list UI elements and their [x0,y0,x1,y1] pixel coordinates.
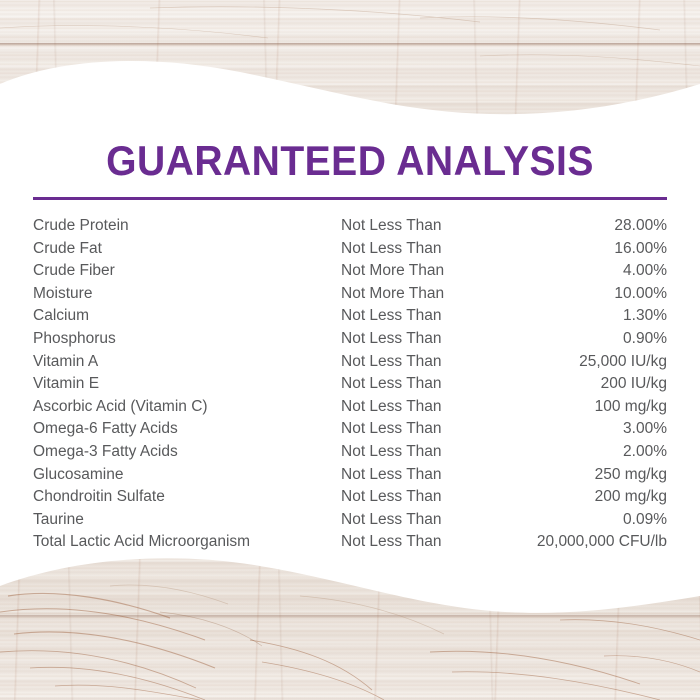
nutrient-qualifier: Not Less Than [341,238,491,261]
table-row: Phosphorus Not Less Than 0.90% [33,328,667,351]
nutrient-name: Omega-6 Fatty Acids [33,418,341,441]
nutrient-value: 100 mg/kg [491,396,667,419]
nutrient-name: Glucosamine [33,464,341,487]
table-row: Crude Fiber Not More Than 4.00% [33,260,667,283]
nutrient-name: Phosphorus [33,328,341,351]
table-row: Vitamin E Not Less Than 200 IU/kg [33,373,667,396]
nutrient-name: Crude Fat [33,238,341,261]
nutrient-value: 0.90% [491,328,667,351]
nutrient-qualifier: Not Less Than [341,215,491,238]
nutrient-name: Vitamin A [33,351,341,374]
table-row: Crude Fat Not Less Than 16.00% [33,238,667,261]
nutrient-name: Taurine [33,509,341,532]
nutrient-qualifier: Not Less Than [341,396,491,419]
nutrient-qualifier: Not Less Than [341,328,491,351]
table-row: Total Lactic Acid Microorganism Not Less… [33,531,667,554]
nutrient-qualifier: Not Less Than [341,441,491,464]
nutrient-value: 200 IU/kg [491,373,667,396]
nutrient-value: 20,000,000 CFU/lb [491,531,667,554]
nutrient-qualifier: Not Less Than [341,509,491,532]
table-row: Taurine Not Less Than 0.09% [33,509,667,532]
nutrient-qualifier: Not More Than [341,260,491,283]
nutrient-value: 3.00% [491,418,667,441]
table-row: Calcium Not Less Than 1.30% [33,305,667,328]
table-row: Moisture Not More Than 10.00% [33,283,667,306]
nutrient-qualifier: Not Less Than [341,418,491,441]
nutrient-value: 10.00% [491,283,667,306]
nutrient-value: 28.00% [491,215,667,238]
nutrient-value: 16.00% [491,238,667,261]
nutrient-value: 1.30% [491,305,667,328]
nutrient-value: 0.09% [491,509,667,532]
nutrient-name: Crude Protein [33,215,341,238]
nutrient-name: Moisture [33,283,341,306]
panel-content: GUARANTEED ANALYSIS Crude Protein Not Le… [0,0,700,700]
nutrient-name: Calcium [33,305,341,328]
nutrient-qualifier: Not Less Than [341,373,491,396]
guaranteed-analysis-table: Crude Protein Not Less Than 28.00% Crude… [33,215,667,554]
table-row: Vitamin A Not Less Than 25,000 IU/kg [33,351,667,374]
nutrient-qualifier: Not More Than [341,283,491,306]
nutrient-name: Vitamin E [33,373,341,396]
nutrient-value: 250 mg/kg [491,464,667,487]
nutrient-name: Crude Fiber [33,260,341,283]
table-row: Crude Protein Not Less Than 28.00% [33,215,667,238]
title-divider [33,197,667,200]
nutrient-value: 4.00% [491,260,667,283]
page-title: GUARANTEED ANALYSIS [25,136,676,186]
nutrient-name: Total Lactic Acid Microorganism [33,531,341,554]
nutrient-value: 25,000 IU/kg [491,351,667,374]
nutrient-name: Omega-3 Fatty Acids [33,441,341,464]
nutrient-name: Chondroitin Sulfate [33,486,341,509]
nutrient-qualifier: Not Less Than [341,486,491,509]
table-row: Omega-6 Fatty Acids Not Less Than 3.00% [33,418,667,441]
nutrient-name: Ascorbic Acid (Vitamin C) [33,396,341,419]
nutrient-qualifier: Not Less Than [341,531,491,554]
nutrient-value: 2.00% [491,441,667,464]
table-row: Ascorbic Acid (Vitamin C) Not Less Than … [33,396,667,419]
nutrient-qualifier: Not Less Than [341,305,491,328]
guaranteed-analysis-panel: GUARANTEED ANALYSIS Crude Protein Not Le… [0,0,700,700]
nutrient-qualifier: Not Less Than [341,464,491,487]
table-row: Chondroitin Sulfate Not Less Than 200 mg… [33,486,667,509]
nutrient-value: 200 mg/kg [491,486,667,509]
nutrient-qualifier: Not Less Than [341,351,491,374]
table-row: Glucosamine Not Less Than 250 mg/kg [33,464,667,487]
table-row: Omega-3 Fatty Acids Not Less Than 2.00% [33,441,667,464]
